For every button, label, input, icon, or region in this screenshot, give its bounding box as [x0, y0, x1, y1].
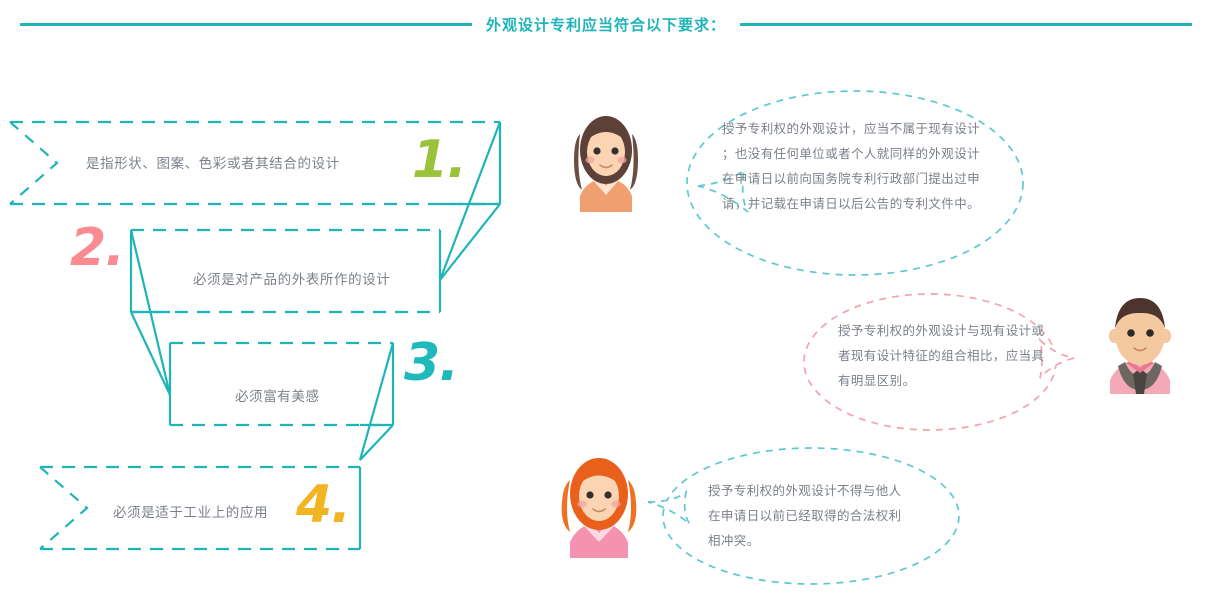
funnel-step-2-number: 2.	[70, 222, 124, 274]
bubble-1-line-2: ；也没有任何单位或者个人就同样的外观设计	[722, 141, 980, 166]
bubble-1-line-4: 请，并记载在申请日以后公告的专利文件中。	[722, 191, 980, 216]
bubble-3-line-2: 在申请日以前已经取得的合法权利	[708, 503, 902, 528]
bubble-2-line-3: 有明显区别。	[838, 368, 1044, 393]
speech-bubble-3-text: 授予专利权的外观设计不得与他人 在申请日以前已经取得的合法权利 相冲突。	[708, 478, 902, 553]
band-1-depth-lower	[440, 204, 500, 280]
funnel-step-2-label: 必须是对产品的外表所作的设计	[193, 268, 390, 288]
speech-bubble-2-text: 授予专利权的外观设计与现有设计或 者现有设计特征的组合相比，应当具 有明显区别。	[838, 318, 1044, 393]
funnel-step-1-label: 是指形状、图案、色彩或者其结合的设计	[86, 152, 340, 172]
bubble-1-line-3: 在申请日以前向国务院专利行政部门提出过申	[722, 166, 980, 191]
bubble-2-line-2: 者现有设计特征的组合相比，应当具	[838, 343, 1044, 368]
bubble-3-line-3: 相冲突。	[708, 528, 902, 553]
speech-bubble-1-text: 授予专利权的外观设计，应当不属于现有设计 ；也没有任何单位或者个人就同样的外观设…	[722, 116, 980, 216]
man-dark-hair-avatar	[1098, 284, 1182, 394]
woman-brown-hair-avatar	[566, 104, 646, 212]
funnel-step-4-number: 4.	[296, 479, 350, 531]
band-4-left-chevron	[40, 467, 87, 549]
funnel-step-3-number: 3.	[404, 337, 458, 389]
page-header: 外观设计专利应当符合以下要求：	[0, 8, 1212, 40]
funnel-step-1-number: 1.	[412, 134, 466, 186]
header-rule-left	[20, 23, 472, 26]
band-1-left-chevron	[10, 122, 57, 204]
page-title: 外观设计专利应当符合以下要求：	[486, 14, 726, 35]
funnel-step-3-label: 必须富有美感	[235, 385, 320, 405]
woman-red-hair-avatar	[556, 446, 642, 558]
bubble-2-line-1: 授予专利权的外观设计与现有设计或	[838, 318, 1044, 343]
funnel-step-4-label: 必须是适于工业上的应用	[113, 501, 268, 521]
band-2-left-depth-lower	[131, 312, 170, 395]
infographic-canvas: 外观设计专利应当符合以下要求：	[0, 0, 1212, 598]
header-rule-right	[740, 23, 1192, 26]
bubble-3-line-1: 授予专利权的外观设计不得与他人	[708, 478, 902, 503]
bubble-1-line-1: 授予专利权的外观设计，应当不属于现有设计	[722, 116, 980, 141]
